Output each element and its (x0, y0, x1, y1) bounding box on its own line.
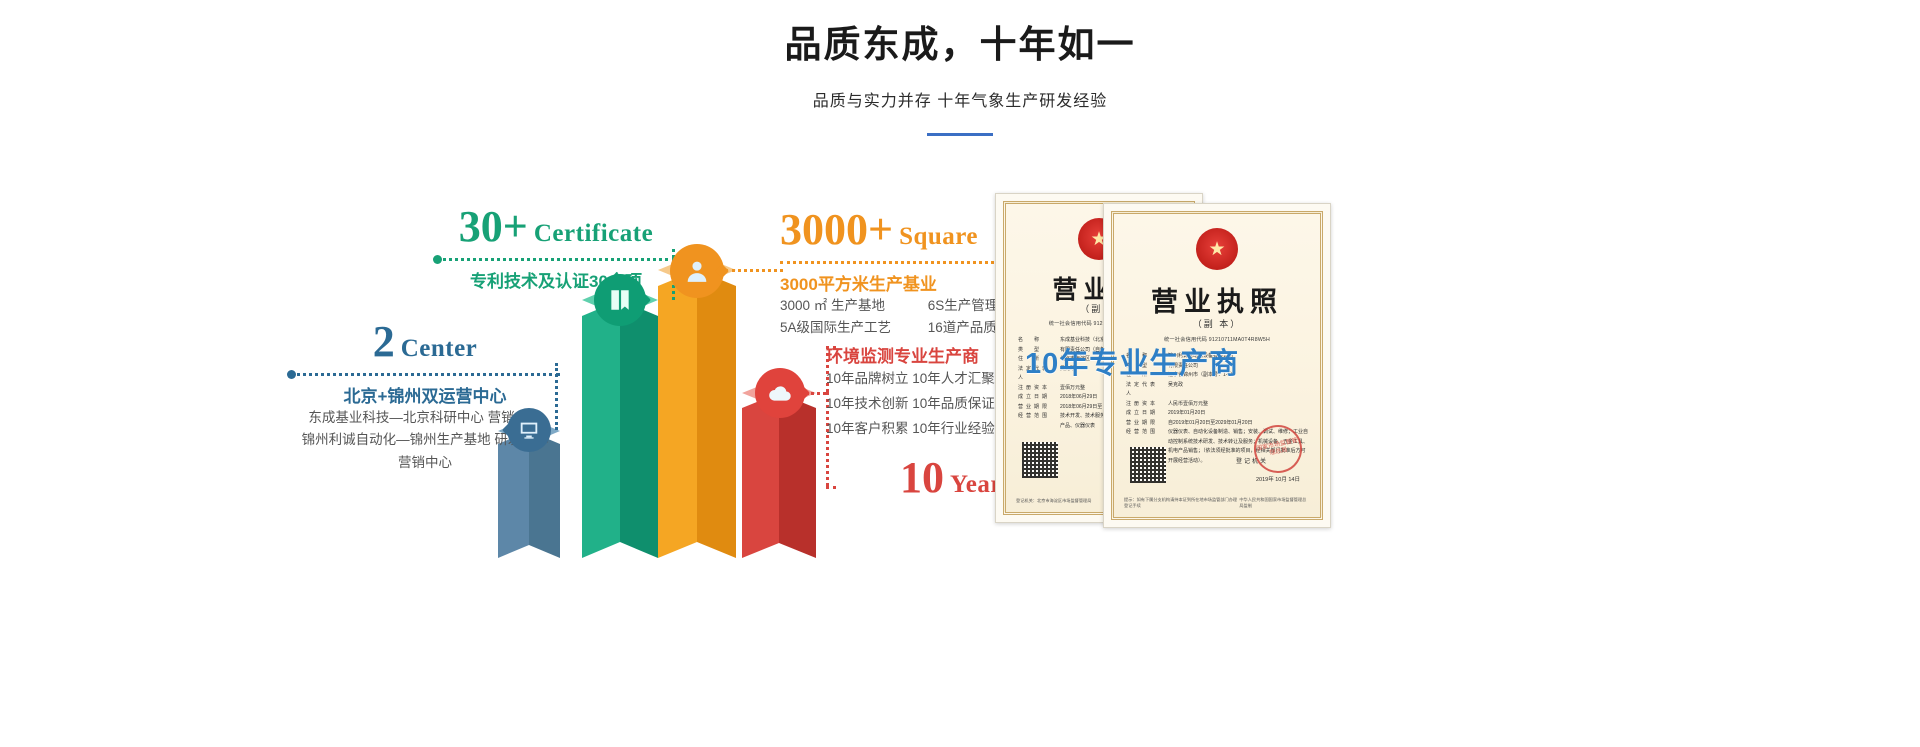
pillar-square-face-right (697, 270, 736, 558)
certificate-front-sub: （副 本） (1114, 317, 1320, 330)
pillar-certificate-face-left (582, 300, 620, 558)
infographic-area: 2Center 北京+锦州双运营中心 东成基业科技—北京科研中心 营销中心 锦州… (0, 150, 1000, 710)
book-icon (594, 274, 646, 326)
row-key: 成立日期 (1018, 393, 1052, 403)
stat-center-dotline (290, 373, 560, 376)
stat-certificate-dotline (436, 258, 676, 261)
monitor-icon (507, 408, 551, 452)
row-value: 吴克政 (1168, 381, 1308, 400)
pillar-square (658, 254, 736, 558)
stat-square-detail-1: 3000 ㎡ 生产基地 (780, 295, 914, 317)
row-key: 经营范围 (1018, 412, 1052, 431)
stat-center-detail-3: 营销中心 (290, 452, 560, 474)
stat-square-word: Square (899, 223, 978, 250)
pillar-year-face-right (779, 393, 816, 558)
table-row: 注册资本人民币壹佰万元整 (1126, 400, 1308, 410)
infographic-page: 品质东成，十年如一 品质与实力并存 十年气象生产研发经验 (0, 0, 1920, 747)
national-emblem-icon: ★ (1196, 228, 1238, 270)
row-key: 营业期限 (1018, 403, 1052, 413)
stat-year-number: 10 (900, 453, 944, 502)
qr-code-icon (1130, 447, 1166, 483)
stat-square-number: 3000+ (780, 205, 893, 254)
stat-center-number: 2 (373, 317, 395, 366)
row-key: 注册资本 (1126, 400, 1160, 410)
stat-center-word: Center (401, 335, 478, 362)
row-key: 法定代表人 (1126, 381, 1160, 400)
stat-square-detail-3: 5A级国际生产工艺 (780, 317, 914, 339)
cloud-icon (755, 368, 805, 418)
person-icon (670, 244, 724, 298)
stat-center-headline: 2Center (290, 320, 560, 364)
table-row: 成立日期2019年01月20日 (1126, 409, 1308, 419)
footer-right: 中华人民共和国国家市场监督管理总局监制 (1239, 497, 1310, 509)
row-key: 营业期限 (1126, 419, 1160, 429)
stat-certificate-word: Certificate (534, 220, 653, 247)
row-value: 人民币壹佰万元整 (1168, 400, 1308, 410)
page-title: 品质东成，十年如一 (0, 26, 1920, 63)
pillar-square-face-left (658, 270, 697, 558)
footer-left: 提示：如有下属分支机构请持本证到所在地市场监管部门办理登记手续 (1124, 497, 1239, 509)
row-value: 2019年01月20日 (1168, 409, 1308, 419)
qr-code-icon (1022, 442, 1058, 478)
title-divider (927, 133, 993, 136)
pillar-certificate-face-right (620, 300, 658, 558)
stat-certificate-number: 30+ (459, 202, 528, 251)
stat-center-lead: 北京+锦州双运营中心 (290, 382, 560, 407)
stat-block-center: 2Center 北京+锦州双运营中心 东成基业科技—北京科研中心 营销中心 锦州… (290, 320, 560, 474)
page-header: 品质东成，十年如一 品质与实力并存 十年气象生产研发经验 (0, 0, 1920, 136)
footer-left: 登记机关：北京市海淀区市场监督管理局 (1016, 498, 1091, 504)
row-key: 注册资本 (1018, 384, 1052, 394)
stat-block-certificate: 30+Certificate 专利技术及认证30余项 (436, 205, 676, 292)
page-subtitle: 品质与实力并存 十年气象生产研发经验 (0, 87, 1920, 111)
certificate-front-footer: 提示：如有下属分支机构请持本证到所在地市场监管部门办理登记手续 中华人民共和国国… (1124, 497, 1310, 509)
table-row: 法定代表人吴克政 (1126, 381, 1308, 400)
certificate-front-title: 营业执照 (1114, 280, 1320, 319)
stat-certificate-headline: 30+Certificate (436, 205, 676, 249)
pillar-year-face-left (742, 393, 779, 558)
certificate-front-date: 2019年 10月 14日 (1256, 475, 1300, 483)
certificate-overlay-label: 10年专业生产商 (1025, 340, 1239, 382)
row-key: 成立日期 (1126, 409, 1160, 419)
